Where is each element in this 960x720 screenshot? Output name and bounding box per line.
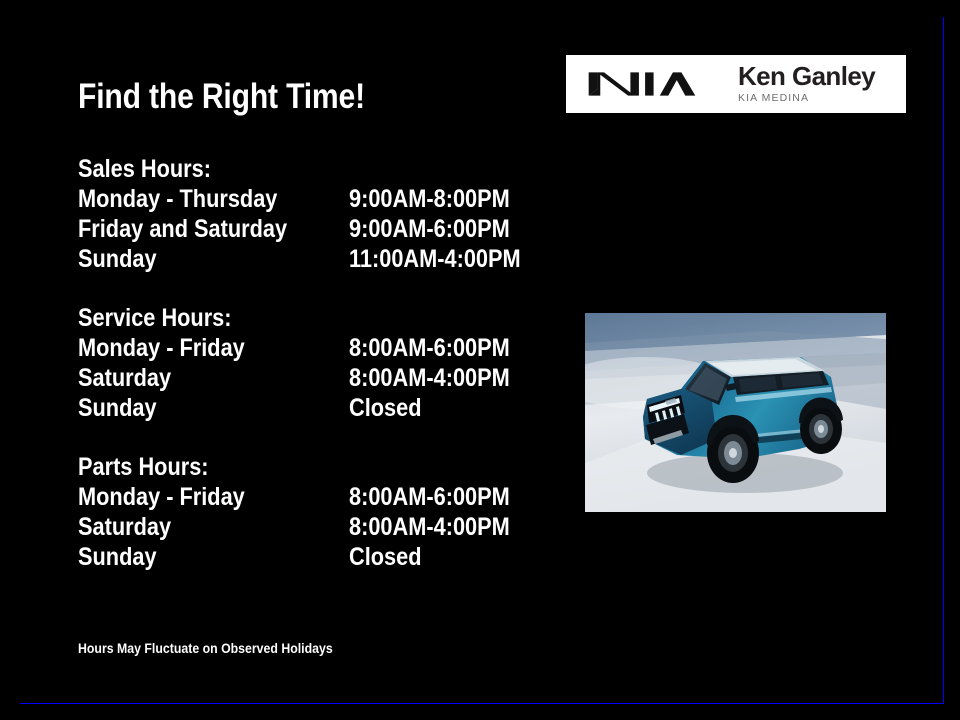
slide-canvas-root: Find the Right Time! Sales Hours: Monday…	[0, 0, 960, 720]
day-label: Monday - Thursday	[78, 184, 277, 214]
day-label: Monday - Friday	[78, 333, 245, 363]
section-heading-parts: Parts Hours:	[78, 452, 487, 482]
time-value: Closed	[349, 542, 422, 572]
dealer-subtitle: KIA MEDINA	[738, 92, 875, 105]
time-value: 8:00AM-6:00PM	[349, 482, 510, 512]
day-label: Friday and Saturday	[78, 214, 287, 244]
page-title: Find the Right Time!	[78, 79, 365, 116]
kia-ev9-suv-photo	[585, 313, 886, 512]
holiday-disclaimer: Hours May Fluctuate on Observed Holidays	[78, 640, 333, 656]
section-heading-sales: Sales Hours:	[78, 154, 487, 184]
time-value: 8:00AM-4:00PM	[349, 363, 510, 393]
hours-row: Sunday 11:00AM-4:00PM	[78, 244, 548, 274]
hours-row: Friday and Saturday 9:00AM-6:00PM	[78, 214, 548, 244]
day-label: Sunday	[78, 393, 157, 423]
dealer-name: Ken Ganley	[738, 63, 875, 89]
time-value: 11:00AM-4:00PM	[349, 244, 521, 274]
time-value: 9:00AM-8:00PM	[349, 184, 510, 214]
time-value: 9:00AM-6:00PM	[349, 214, 510, 244]
hours-section-sales: Sales Hours: Monday - Thursday 9:00AM-8:…	[78, 154, 548, 274]
kia-logo-icon	[580, 67, 704, 101]
hours-row: Monday - Thursday 9:00AM-8:00PM	[78, 184, 548, 214]
dealer-logo-plate: Ken Ganley KIA MEDINA	[566, 55, 906, 113]
hours-row: Sunday Closed	[78, 542, 548, 572]
time-value: 8:00AM-4:00PM	[349, 512, 510, 542]
day-label: Sunday	[78, 244, 157, 274]
day-label: Saturday	[78, 363, 171, 393]
hours-row: Monday - Friday 8:00AM-6:00PM	[78, 482, 548, 512]
hours-section-parts: Parts Hours: Monday - Friday 8:00AM-6:00…	[78, 452, 548, 572]
section-heading-service: Service Hours:	[78, 303, 487, 333]
dealer-name-block: Ken Ganley KIA MEDINA	[738, 63, 875, 105]
slide-content-area: Find the Right Time! Sales Hours: Monday…	[17, 17, 943, 703]
day-label: Saturday	[78, 512, 171, 542]
hours-section-service: Service Hours: Monday - Friday 8:00AM-6:…	[78, 303, 548, 423]
hours-row: Saturday 8:00AM-4:00PM	[78, 512, 548, 542]
hours-listing: Sales Hours: Monday - Thursday 9:00AM-8:…	[78, 154, 548, 572]
time-value: Closed	[349, 393, 422, 423]
hours-row: Saturday 8:00AM-4:00PM	[78, 363, 548, 393]
day-label: Sunday	[78, 542, 157, 572]
day-label: Monday - Friday	[78, 482, 245, 512]
time-value: 8:00AM-6:00PM	[349, 333, 510, 363]
hours-row: Monday - Friday 8:00AM-6:00PM	[78, 333, 548, 363]
hours-row: Sunday Closed	[78, 393, 548, 423]
